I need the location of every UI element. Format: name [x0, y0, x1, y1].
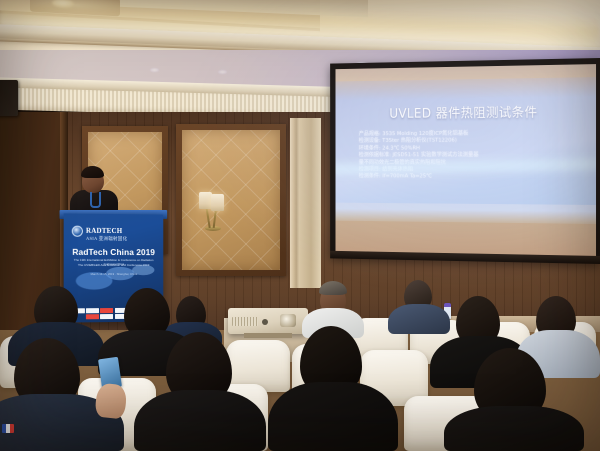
wall-pilaster [290, 118, 299, 288]
raised-hand [94, 383, 127, 420]
sconce-shade [211, 194, 224, 211]
sponsor-logo [86, 308, 99, 313]
presentation-room-photo: UVLED 器件热阻测试条件 产品规格: 3535 Molding 120度IC… [0, 0, 600, 451]
sponsor-logo [86, 314, 99, 319]
podium-event-title: RadTech China 2019 [64, 247, 164, 257]
sponsor-logo [100, 308, 113, 313]
projection-screen: UVLED 器件热阻测试条件 产品规格: 3535 Molding 120度IC… [330, 58, 600, 263]
screen-surface: UVLED 器件热阻测试条件 产品规格: 3535 Molding 120度IC… [335, 64, 596, 258]
audience-shoulders [268, 382, 398, 451]
quilted-wall-panel [182, 130, 280, 270]
flag-pin-icon [2, 424, 14, 433]
podium-brand-sub: ASIA 亚洲辐射固化 [86, 236, 127, 242]
slide-title: UVLED 器件热阻测试条件 [335, 101, 596, 122]
projector [228, 308, 308, 334]
audience-shoulders [444, 406, 584, 451]
projector-lens-icon [280, 314, 296, 327]
presenter-hair [81, 166, 104, 178]
podium-event-dates: March 13-15, 2019 · Shanghai, China [70, 272, 158, 276]
sponsor-logo [100, 314, 113, 319]
projector-stand [244, 333, 292, 338]
projection-haze [335, 77, 596, 100]
projector-vent [232, 317, 258, 326]
podium-event-subtitle-2: The UV/EB/LED Asia Exhibition and Confer… [70, 263, 158, 267]
radtech-globe-icon [72, 225, 83, 236]
downlight-icon [218, 70, 227, 74]
audience-shoulders [388, 304, 450, 334]
projected-slide-area: UVLED 器件热阻测试条件 产品规格: 3535 Molding 120度IC… [335, 77, 596, 205]
downlight-icon [150, 68, 159, 72]
podium-brand: RADTECH [86, 228, 122, 234]
projector-knob-icon [262, 319, 268, 325]
audience-shoulders [134, 390, 266, 451]
presenter-lanyard [90, 192, 101, 208]
wall-pilaster [299, 118, 321, 288]
loudspeaker-icon [0, 80, 18, 116]
